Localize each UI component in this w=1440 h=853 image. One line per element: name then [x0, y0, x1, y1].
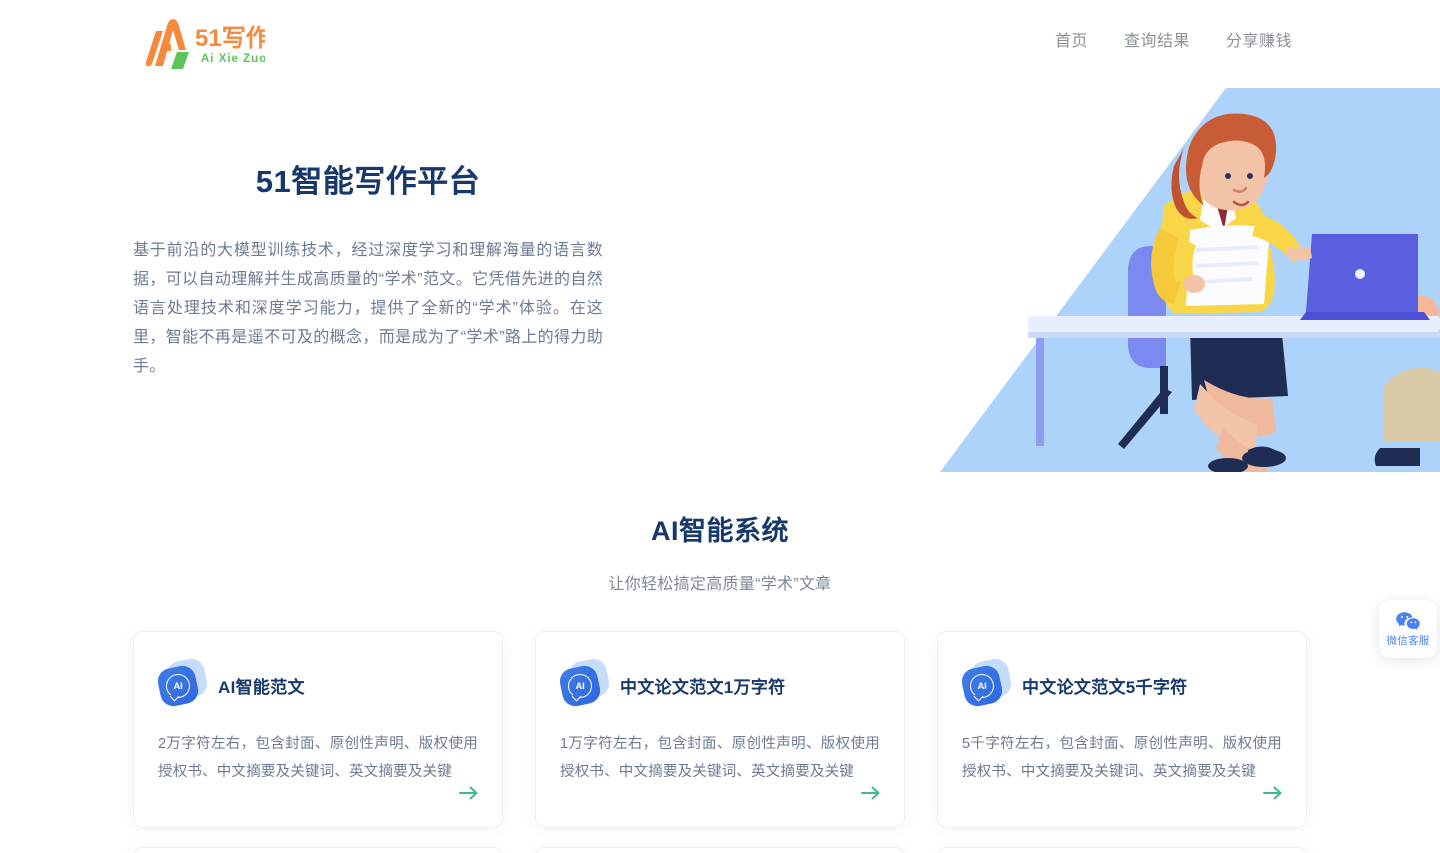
site-header: 51写作 Ai Xie Zuo 首页 查询结果 分享赚钱	[0, 0, 1440, 88]
feature-card-list: AI AI智能范文 2万字符左右，包含封面、原创性声明、版权使用授权书、中文摘要…	[133, 631, 1308, 828]
ai-bubble-icon: AI	[962, 662, 1008, 708]
hero-section: 51智能写作平台 基于前沿的大模型训练技术，经过深度学习和理解海量的语言数据，可…	[0, 88, 1440, 483]
arrow-right-icon[interactable]	[458, 784, 480, 802]
card-title: 中文论文范文5千字符	[1022, 673, 1187, 698]
main-navigation: 首页 查询结果 分享赚钱	[1055, 30, 1292, 54]
hero-copy: 51智能写作平台 基于前沿的大模型训练技术，经过深度学习和理解海量的语言数据，可…	[133, 160, 653, 381]
wechat-support-label: 微信客服	[1387, 633, 1430, 648]
feature-card[interactable]	[535, 847, 905, 853]
logo-subtext: Ai Xie Zuo	[201, 53, 265, 65]
logo-wordmark: 51写作	[195, 25, 265, 52]
arrow-right-icon[interactable]	[860, 784, 882, 802]
card-description: 5千字符左右，包含封面、原创性声明、版权使用授权书、中文摘要及关键词、英文摘要及…	[962, 730, 1282, 786]
nav-item-query-results[interactable]: 查询结果	[1124, 30, 1190, 54]
feature-card[interactable]	[133, 847, 503, 853]
brand-logo[interactable]: 51写作 Ai Xie Zuo	[133, 14, 265, 74]
card-description: 2万字符左右，包含封面、原创性声明、版权使用授权书、中文摘要及关键词、英文摘要及…	[158, 730, 478, 786]
ai-bubble-icon: AI	[158, 662, 204, 708]
card-header: AI AI智能范文	[158, 662, 478, 708]
nav-item-share-earn[interactable]: 分享赚钱	[1226, 30, 1292, 54]
feature-card-list-row2	[133, 847, 1308, 853]
ai-bubble-icon: AI	[560, 662, 606, 708]
card-description: 1万字符左右，包含封面、原创性声明、版权使用授权书、中文摘要及关键词、英文摘要及…	[560, 730, 880, 786]
card-title: 中文论文范文1万字符	[620, 673, 785, 698]
feature-card[interactable]: AI 中文论文范文1万字符 1万字符左右，包含封面、原创性声明、版权使用授权书、…	[535, 631, 905, 828]
page-root: 51写作 Ai Xie Zuo 首页 查询结果 分享赚钱	[0, 0, 1440, 853]
feature-card[interactable]: AI AI智能范文 2万字符左右，包含封面、原创性声明、版权使用授权书、中文摘要…	[133, 631, 503, 828]
section-subtitle: 让你轻松搞定高质量“学术”文章	[0, 570, 1440, 594]
desk-scene-illustration	[928, 88, 1440, 472]
card-header: AI 中文论文范文5千字符	[962, 662, 1282, 708]
wechat-icon	[1395, 611, 1421, 631]
card-header: AI 中文论文范文1万字符	[560, 662, 880, 708]
card-title: AI智能范文	[218, 673, 305, 698]
hero-description: 基于前沿的大模型训练技术，经过深度学习和理解海量的语言数据，可以自动理解并生成高…	[133, 236, 603, 381]
arrow-right-icon[interactable]	[1262, 784, 1284, 802]
hero-illustration	[928, 88, 1440, 472]
logo-icon: 51写作 Ai Xie Zuo	[133, 14, 265, 74]
hero-title: 51智能写作平台	[133, 160, 603, 204]
features-section: AI智能系统 让你轻松搞定高质量“学术”文章	[0, 483, 1440, 594]
feature-card[interactable]	[937, 847, 1307, 853]
wechat-support-button[interactable]: 微信客服	[1379, 600, 1437, 658]
feature-card[interactable]: AI 中文论文范文5千字符 5千字符左右，包含封面、原创性声明、版权使用授权书、…	[937, 631, 1307, 828]
nav-item-home[interactable]: 首页	[1055, 30, 1088, 54]
section-title: AI智能系统	[0, 509, 1440, 548]
